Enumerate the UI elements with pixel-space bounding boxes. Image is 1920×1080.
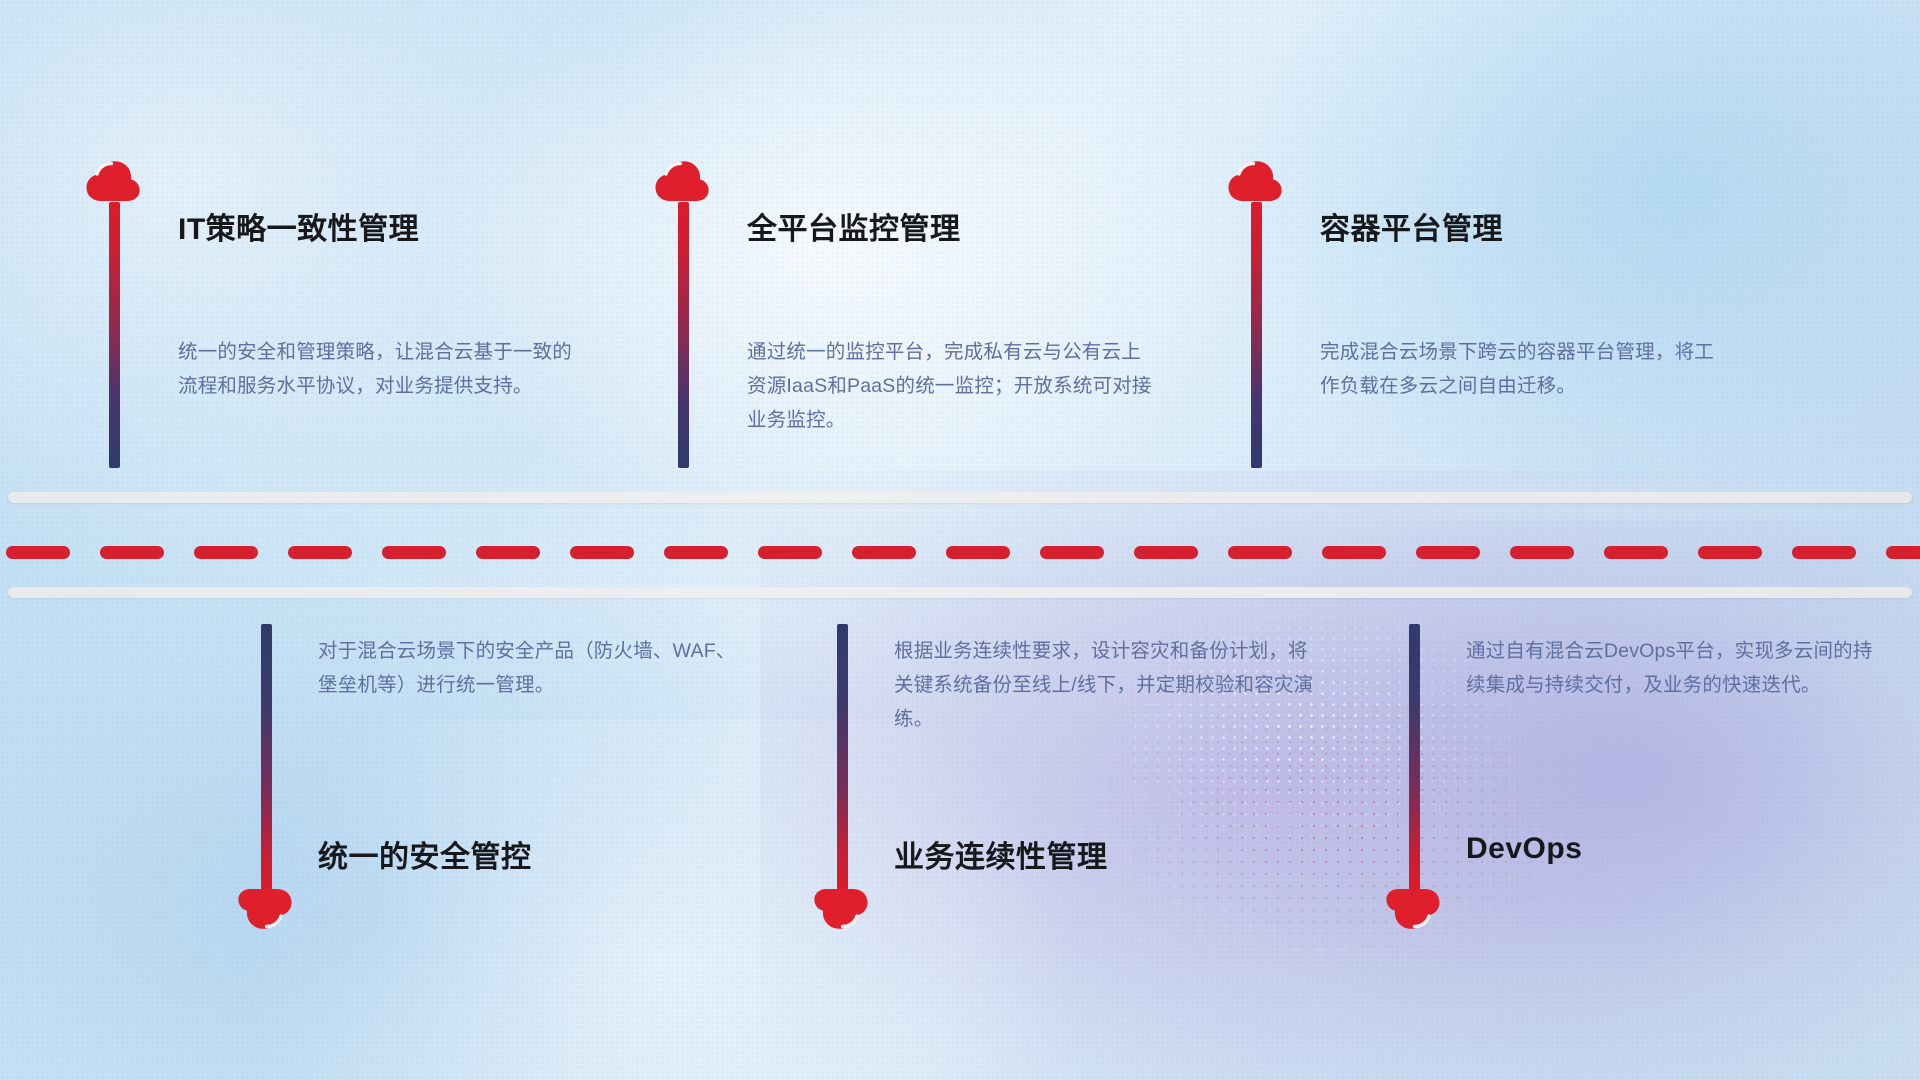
divider-bar-bottom bbox=[8, 587, 1912, 598]
feature-body-text: 统一的安全和管理策略，让混合云基于一致的流程和服务水平协议，对业务提供支持。 bbox=[178, 335, 588, 403]
feature-column-2[interactable]: 全平台监控管理 通过统一的监控平台，完成私有云与公有云上资源IaaS和PaaS的… bbox=[667, 160, 710, 468]
connector-line bbox=[678, 202, 689, 468]
cloud-pin-icon bbox=[813, 888, 869, 930]
cloud-pin-icon bbox=[237, 888, 293, 930]
dash-segment bbox=[1886, 546, 1920, 559]
feature-body-text: 完成混合云场景下跨云的容器平台管理，将工作负载在多云之间自由迁移。 bbox=[1320, 335, 1730, 403]
connector-line bbox=[837, 624, 848, 890]
cloud-pin-icon bbox=[1385, 888, 1441, 930]
dash-segment bbox=[194, 546, 258, 559]
dash-segment bbox=[946, 546, 1010, 559]
dash-segment bbox=[288, 546, 352, 559]
feature-heading: IT策略一致性管理 bbox=[178, 204, 419, 248]
divider-bar-top bbox=[8, 492, 1912, 503]
dash-segment bbox=[1040, 546, 1104, 559]
dash-segment bbox=[1510, 546, 1574, 559]
feature-column-5[interactable]: 根据业务连续性要求，设计容灾和备份计划，将关键系统备份至线上/线下，并定期校验和… bbox=[826, 624, 869, 930]
dash-segment bbox=[758, 546, 822, 559]
dash-segment bbox=[664, 546, 728, 559]
dash-segment bbox=[1416, 546, 1480, 559]
feature-body-text: 对于混合云场景下的安全产品（防火墙、WAF、堡垒机等）进行统一管理。 bbox=[318, 634, 738, 702]
infographic-stage: IT策略一致性管理 统一的安全和管理策略，让混合云基于一致的流程和服务水平协议，… bbox=[0, 0, 1920, 1080]
feature-heading: 业务连续性管理 bbox=[894, 832, 1108, 876]
connector-line bbox=[261, 624, 272, 890]
cloud-pin-icon bbox=[654, 160, 710, 202]
dash-segment bbox=[6, 546, 70, 559]
dash-segment bbox=[476, 546, 540, 559]
feature-body-text: 根据业务连续性要求，设计容灾和备份计划，将关键系统备份至线上/线下，并定期校验和… bbox=[894, 634, 1314, 736]
connector-line bbox=[1409, 624, 1420, 890]
connector-line bbox=[109, 202, 120, 468]
feature-heading: 统一的安全管控 bbox=[318, 832, 532, 876]
dash-segment bbox=[1698, 546, 1762, 559]
feature-column-3[interactable]: 容器平台管理 完成混合云场景下跨云的容器平台管理，将工作负载在多云之间自由迁移。 bbox=[1240, 160, 1283, 468]
cloud-pin-icon bbox=[1227, 160, 1283, 202]
connector-line bbox=[1251, 202, 1262, 468]
feature-heading: 全平台监控管理 bbox=[747, 204, 961, 248]
dash-segment bbox=[570, 546, 634, 559]
dashed-separator-line bbox=[0, 546, 1920, 559]
feature-body-text: 通过统一的监控平台，完成私有云与公有云上资源IaaS和PaaS的统一监控；开放系… bbox=[747, 335, 1157, 437]
feature-body-text: 通过自有混合云DevOps平台，实现多云间的持续集成与持续交付，及业务的快速迭代… bbox=[1466, 634, 1886, 702]
dash-segment bbox=[852, 546, 916, 559]
feature-column-6[interactable]: 通过自有混合云DevOps平台，实现多云间的持续集成与持续交付，及业务的快速迭代… bbox=[1398, 624, 1441, 930]
dash-segment bbox=[1604, 546, 1668, 559]
dash-segment bbox=[382, 546, 446, 559]
feature-heading: DevOps bbox=[1466, 832, 1582, 866]
feature-column-1[interactable]: IT策略一致性管理 统一的安全和管理策略，让混合云基于一致的流程和服务水平协议，… bbox=[98, 160, 141, 468]
dash-segment bbox=[100, 546, 164, 559]
dash-segment bbox=[1792, 546, 1856, 559]
feature-column-4[interactable]: 对于混合云场景下的安全产品（防火墙、WAF、堡垒机等）进行统一管理。 统一的安全… bbox=[250, 624, 293, 930]
dash-segment bbox=[1322, 546, 1386, 559]
feature-heading: 容器平台管理 bbox=[1320, 204, 1503, 248]
dash-segment bbox=[1134, 546, 1198, 559]
cloud-pin-icon bbox=[85, 160, 141, 202]
dash-segment bbox=[1228, 546, 1292, 559]
